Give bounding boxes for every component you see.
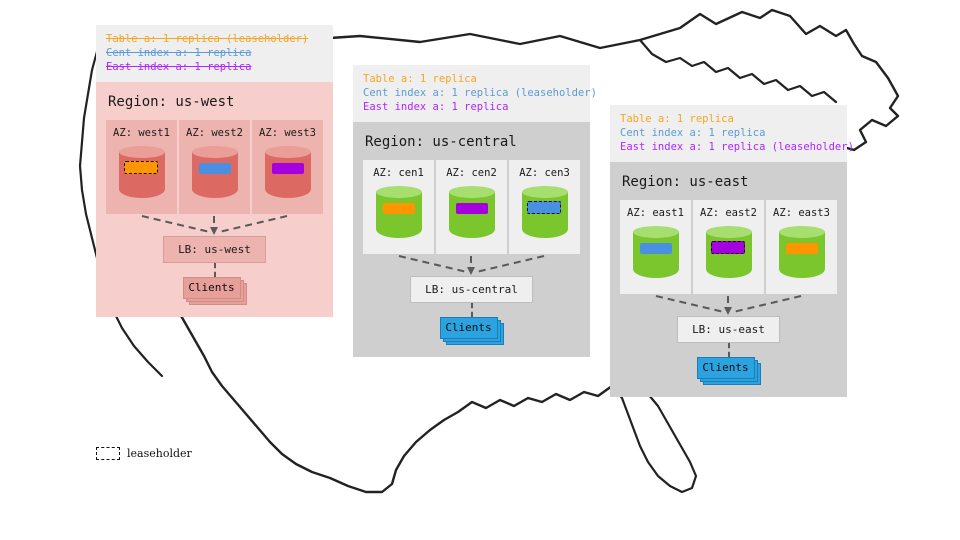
cylinder-top bbox=[633, 226, 679, 238]
node-cylinder-west2[interactable] bbox=[192, 146, 238, 204]
lb-to-clients-line-us-central bbox=[471, 303, 473, 317]
az-label-cen1: AZ: cen1 bbox=[367, 167, 430, 179]
cylinder-body bbox=[265, 152, 311, 198]
az-to-lb-arrows-us-east bbox=[620, 294, 837, 316]
range-cent-index-a-leaseholder bbox=[527, 201, 561, 214]
cylinder-body bbox=[192, 152, 238, 198]
node-cylinder-cen2[interactable] bbox=[449, 186, 495, 244]
range-east-index-a-leaseholder bbox=[711, 241, 745, 254]
cylinder-body bbox=[706, 232, 752, 278]
load-balancer-us-east[interactable]: LB: us-east bbox=[677, 316, 780, 343]
node-cylinder-cen1[interactable] bbox=[376, 186, 422, 244]
great-lakes-edge bbox=[640, 40, 836, 102]
cylinder-body bbox=[449, 192, 495, 238]
az-label-west1: AZ: west1 bbox=[110, 127, 173, 139]
cylinder-top bbox=[376, 186, 422, 198]
az-label-east2: AZ: east2 bbox=[697, 207, 760, 219]
az-box-east2[interactable]: AZ: east2 bbox=[693, 200, 764, 294]
clients-stack-us-west[interactable]: Clients bbox=[183, 277, 247, 305]
replica-line-east-index-a: East index a: 1 replica (leaseholder) bbox=[620, 140, 837, 154]
clients-group-us-west[interactable]: Clients bbox=[183, 277, 247, 305]
range-table-a-leaseholder bbox=[124, 161, 158, 174]
clients-group-us-central[interactable]: Clients bbox=[440, 317, 504, 345]
az-box-east1[interactable]: AZ: east1 bbox=[620, 200, 691, 294]
node-cylinder-east2[interactable] bbox=[706, 226, 752, 284]
clients-stack-us-central[interactable]: Clients bbox=[440, 317, 504, 345]
region-panel-us-central: Table a: 1 replica Cent index a: 1 repli… bbox=[353, 65, 590, 357]
az-row-us-east: AZ: east1 AZ: east2 AZ: east3 bbox=[620, 200, 837, 294]
cylinder-top bbox=[265, 146, 311, 158]
az-box-cen3[interactable]: AZ: cen3 bbox=[509, 160, 580, 254]
az-box-east3[interactable]: AZ: east3 bbox=[766, 200, 837, 294]
replica-line-cent-index-a: Cent index a: 1 replica (leaseholder) bbox=[363, 86, 580, 100]
legend-leaseholder-key: leaseholder bbox=[96, 447, 192, 460]
az-label-cen2: AZ: cen2 bbox=[440, 167, 503, 179]
range-table-a bbox=[786, 243, 818, 254]
node-cylinder-west1[interactable] bbox=[119, 146, 165, 204]
replica-line-table-a: Table a: 1 replica bbox=[363, 72, 580, 86]
region-body-us-east: Region: us-east AZ: east1 AZ: east2 bbox=[610, 162, 847, 397]
az-to-lb-arrows-us-west bbox=[106, 214, 323, 236]
clients-label-us-west: Clients bbox=[183, 277, 241, 299]
node-cylinder-west3[interactable] bbox=[265, 146, 311, 204]
dashed-box-icon bbox=[96, 447, 120, 460]
az-box-cen2[interactable]: AZ: cen2 bbox=[436, 160, 507, 254]
region-body-us-west: Region: us-west AZ: west1 AZ: west2 bbox=[96, 82, 333, 317]
cylinder-top bbox=[522, 186, 568, 198]
clients-label-us-central: Clients bbox=[440, 317, 498, 339]
cylinder-body bbox=[779, 232, 825, 278]
region-title-us-west: Region: us-west bbox=[108, 94, 323, 110]
az-label-west3: AZ: west3 bbox=[256, 127, 319, 139]
az-label-east1: AZ: east1 bbox=[624, 207, 687, 219]
lb-to-clients-line-us-west bbox=[214, 263, 216, 277]
az-label-east3: AZ: east3 bbox=[770, 207, 833, 219]
az-row-us-central: AZ: cen1 AZ: cen2 AZ: cen3 bbox=[363, 160, 580, 254]
az-box-west1[interactable]: AZ: west1 bbox=[106, 120, 177, 214]
region-title-us-central: Region: us-central bbox=[365, 134, 580, 150]
clients-stack-us-east[interactable]: Clients bbox=[697, 357, 761, 385]
replica-line-table-a: Table a: 1 replica (leaseholder) bbox=[106, 32, 323, 46]
replica-legend-us-central: Table a: 1 replica Cent index a: 1 repli… bbox=[353, 65, 590, 122]
replica-line-cent-index-a: Cent index a: 1 replica bbox=[106, 46, 323, 60]
cylinder-body bbox=[376, 192, 422, 238]
az-label-cen3: AZ: cen3 bbox=[513, 167, 576, 179]
range-east-index-a bbox=[456, 203, 488, 214]
florida-coast bbox=[612, 386, 696, 492]
region-panel-us-west: Table a: 1 replica (leaseholder) Cent in… bbox=[96, 25, 333, 317]
replica-line-table-a: Table a: 1 replica bbox=[620, 112, 837, 126]
replica-legend-us-east: Table a: 1 replica Cent index a: 1 repli… bbox=[610, 105, 847, 162]
load-balancer-us-west[interactable]: LB: us-west bbox=[163, 236, 266, 263]
replica-line-cent-index-a: Cent index a: 1 replica bbox=[620, 126, 837, 140]
replica-line-east-index-a: East index a: 1 replica bbox=[363, 100, 580, 114]
range-east-index-a bbox=[272, 163, 304, 174]
az-to-lb-arrows-us-central bbox=[363, 254, 580, 276]
lb-to-clients-line-us-east bbox=[728, 343, 730, 357]
az-box-west2[interactable]: AZ: west2 bbox=[179, 120, 250, 214]
node-cylinder-east1[interactable] bbox=[633, 226, 679, 284]
cylinder-top bbox=[119, 146, 165, 158]
cylinder-top bbox=[192, 146, 238, 158]
replica-legend-us-west: Table a: 1 replica (leaseholder) Cent in… bbox=[96, 25, 333, 82]
region-panel-us-east: Table a: 1 replica Cent index a: 1 repli… bbox=[610, 105, 847, 397]
cylinder-top bbox=[706, 226, 752, 238]
range-cent-index-a bbox=[199, 163, 231, 174]
node-cylinder-east3[interactable] bbox=[779, 226, 825, 284]
clients-group-us-east[interactable]: Clients bbox=[697, 357, 761, 385]
az-label-west2: AZ: west2 bbox=[183, 127, 246, 139]
region-title-us-east: Region: us-east bbox=[622, 174, 837, 190]
clients-label-us-east: Clients bbox=[697, 357, 755, 379]
node-cylinder-cen3[interactable] bbox=[522, 186, 568, 244]
cylinder-body bbox=[522, 192, 568, 238]
az-row-us-west: AZ: west1 AZ: west2 AZ: west3 bbox=[106, 120, 323, 214]
az-box-cen1[interactable]: AZ: cen1 bbox=[363, 160, 434, 254]
az-box-west3[interactable]: AZ: west3 bbox=[252, 120, 323, 214]
cylinder-top bbox=[779, 226, 825, 238]
region-body-us-central: Region: us-central AZ: cen1 AZ: cen2 bbox=[353, 122, 590, 357]
cylinder-top bbox=[449, 186, 495, 198]
replica-line-east-index-a: East index a: 1 replica bbox=[106, 60, 323, 74]
legend-leaseholder-label: leaseholder bbox=[127, 447, 192, 460]
range-cent-index-a bbox=[640, 243, 672, 254]
load-balancer-us-central[interactable]: LB: us-central bbox=[410, 276, 533, 303]
cylinder-body bbox=[633, 232, 679, 278]
range-table-a bbox=[383, 203, 415, 214]
cylinder-body bbox=[119, 152, 165, 198]
